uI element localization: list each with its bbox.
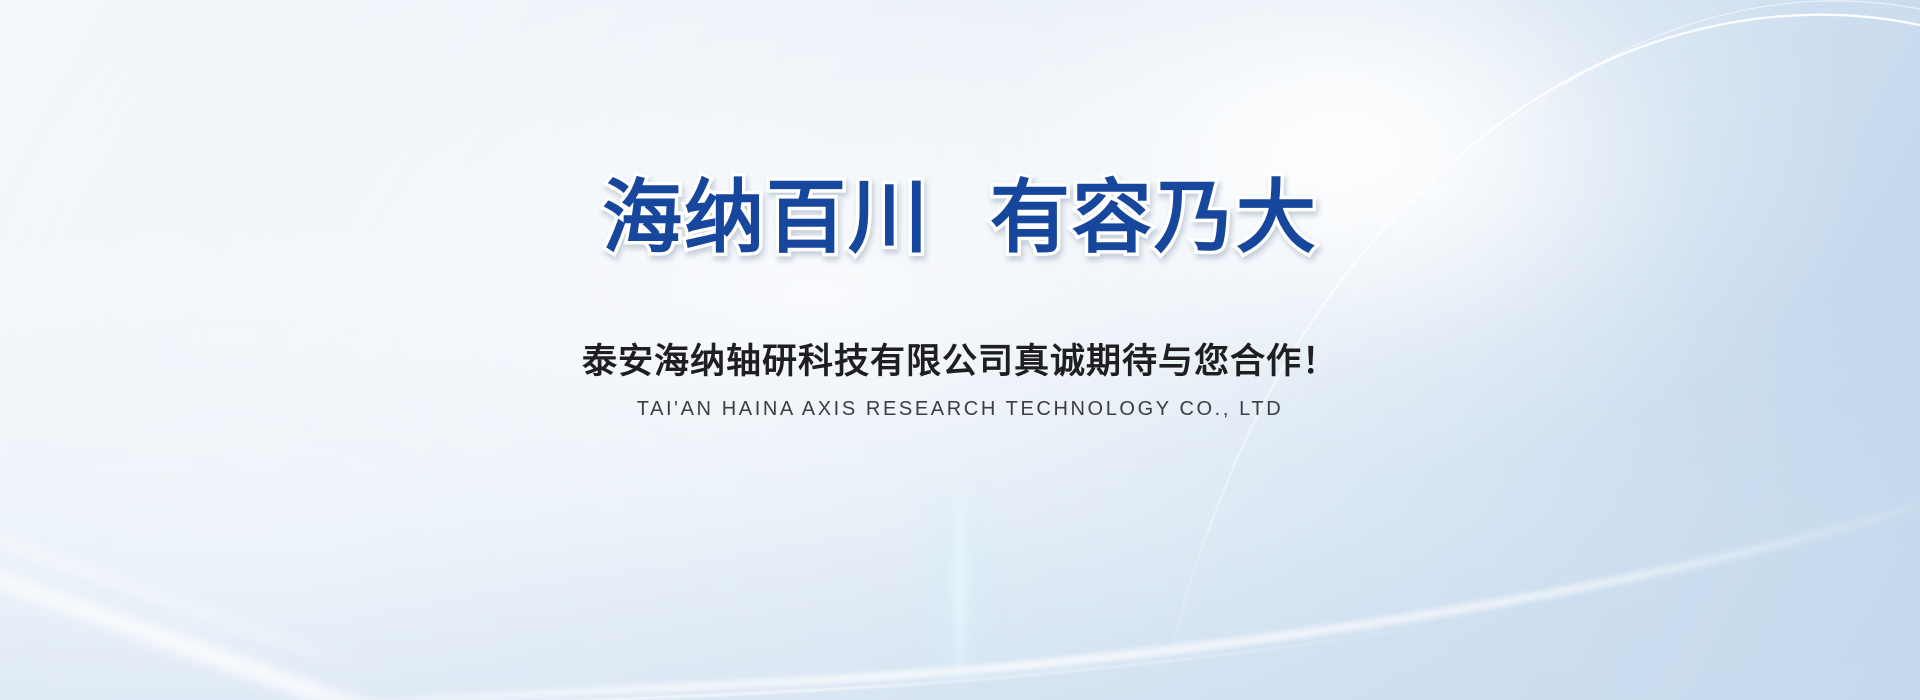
banner-headline: 海纳百川 有容乃大: [602, 176, 1318, 261]
banner-english-name: TAI'AN HAINA AXIS RESEARCH TECHNOLOGY CO…: [637, 398, 1284, 421]
banner-subtitle: 泰安海纳轴研科技有限公司真诚期待与您合作！: [582, 333, 1338, 384]
banner-content: 海纳百川 有容乃大 泰安海纳轴研科技有限公司真诚期待与您合作！ TAI'AN H…: [0, 0, 1920, 700]
hero-banner: 海纳百川 有容乃大 泰安海纳轴研科技有限公司真诚期待与您合作！ TAI'AN H…: [0, 0, 1920, 700]
